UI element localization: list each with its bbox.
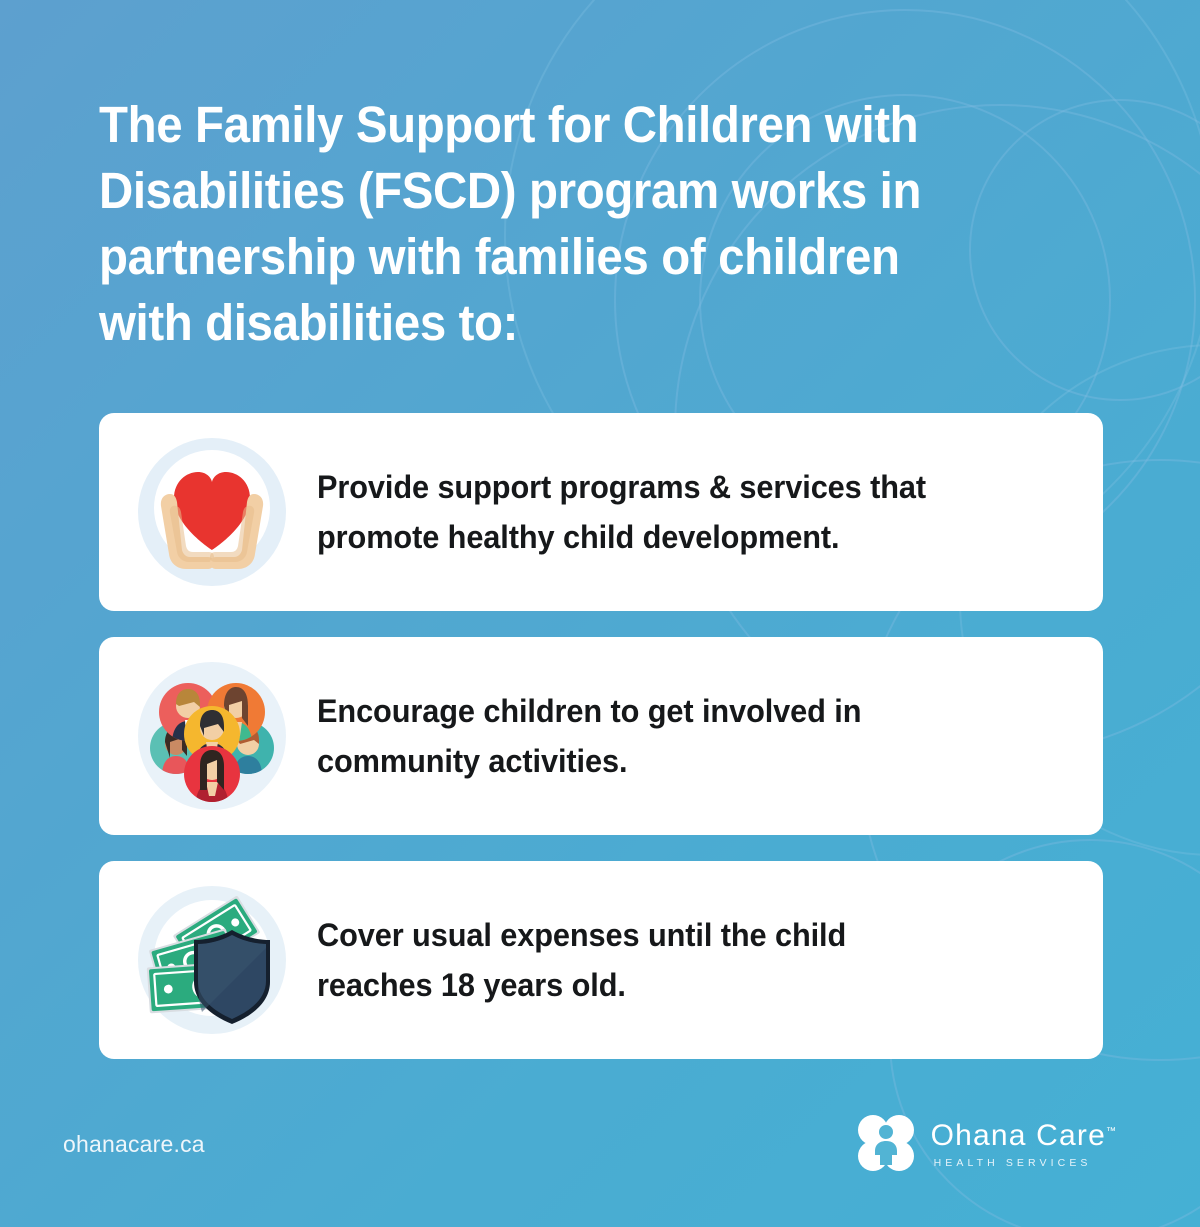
hands-holding-heart-icon	[132, 432, 292, 592]
website-url[interactable]: ohanacare.ca	[63, 1131, 205, 1158]
logo-name: Ohana Care™	[931, 1115, 1116, 1153]
logo-name-text: Ohana Care	[931, 1119, 1106, 1152]
benefit-card-text: Provide support programs & services that…	[317, 462, 1033, 562]
trademark-symbol: ™	[1106, 1126, 1116, 1137]
page-title: The Family Support for Children with Dis…	[99, 92, 992, 356]
benefit-card: Provide support programs & services that…	[99, 413, 1103, 611]
logo-tagline: HEALTH SERVICES	[934, 1155, 1116, 1171]
logo-wordmark: Ohana Care™ HEALTH SERVICES	[931, 1115, 1116, 1171]
ohana-care-logo[interactable]: Ohana Care™ HEALTH SERVICES	[855, 1112, 1116, 1174]
benefit-card: $ Cover usual expenses until the child r…	[99, 861, 1103, 1059]
ohana-clover-person-logo	[855, 1112, 917, 1174]
benefit-card-text: Encourage children to get involved in co…	[317, 686, 1033, 786]
money-with-shield-icon: $	[132, 880, 292, 1040]
benefit-card-list: Provide support programs & services that…	[99, 413, 1103, 1059]
group-of-people-icon	[132, 656, 292, 816]
infographic-poster: The Family Support for Children with Dis…	[0, 0, 1200, 1227]
benefit-card-text: Cover usual expenses until the child rea…	[317, 910, 1033, 1010]
benefit-card: Encourage children to get involved in co…	[99, 637, 1103, 835]
